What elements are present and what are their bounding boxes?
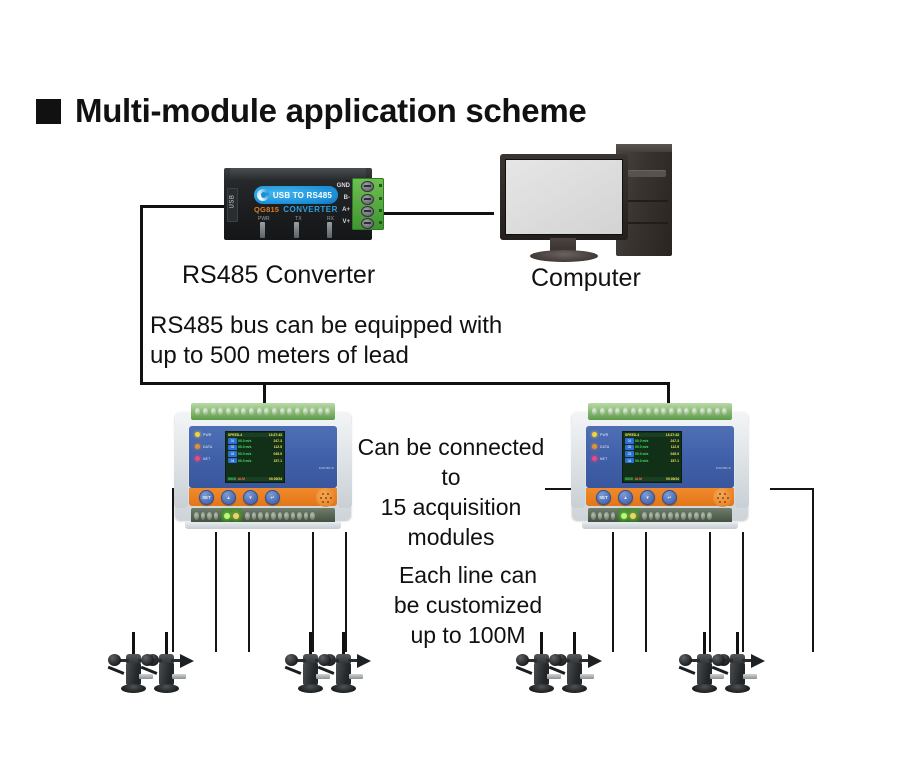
module-lcd-display: SPEED-4 13:27:43 01 00.0 m/s 247.3 02 00… <box>622 431 682 483</box>
note-rs485-bus-line1: RS485 bus can be equipped with <box>150 311 620 341</box>
lcd-channel-speed: 00.0 m/s <box>238 459 260 463</box>
module-set-button[interactable]: SET <box>596 490 611 505</box>
lcd-channel-tag: 04 <box>625 458 634 463</box>
top-terminal-pin <box>600 407 605 416</box>
top-terminal-pin <box>249 407 254 416</box>
wind-anemometer-sensor <box>321 632 369 702</box>
top-terminal-pin <box>684 407 689 416</box>
lcd-footer-time: 00.00/24 <box>666 477 679 481</box>
converter-screw-terminal-block <box>352 178 384 230</box>
lcd-channel-value: 112.5 <box>671 445 679 449</box>
module-foot-rail <box>185 522 341 529</box>
sensor-base <box>725 684 750 693</box>
sensor-connector <box>743 674 757 679</box>
screw-terminal-a <box>361 206 374 217</box>
sensor-base <box>154 684 179 693</box>
sensor-cable <box>549 666 566 675</box>
lcd-header-time: 13:27:43 <box>666 433 679 437</box>
module-speaker-grille <box>316 488 335 507</box>
top-terminal-pin <box>669 407 674 416</box>
top-terminal-pin <box>325 407 330 416</box>
led-indicator-pwr-icon <box>195 432 200 437</box>
note-line-length-line2: be customized <box>380 590 556 620</box>
lcd-footer-mode: X019 <box>228 477 236 481</box>
top-terminal-pin <box>303 407 308 416</box>
module-led-data: DATA <box>195 444 225 449</box>
wire-right-module-sensor-b <box>645 532 647 652</box>
lcd-channel-value: 247.3 <box>671 439 680 443</box>
module-led-label-data: DATA <box>203 445 212 449</box>
terminal-label-a: A+ <box>324 204 350 216</box>
sensor-cup <box>318 654 331 666</box>
sensor-cable <box>141 666 158 675</box>
led-indicator-net-icon <box>195 456 200 461</box>
module-lcd-display: SPEED-4 13:27:43 01 00.0 m/s 247.3 02 00… <box>225 431 285 483</box>
top-terminal-pin <box>654 407 659 416</box>
sensor-cable <box>108 666 125 675</box>
lcd-footer-alarm: ALM <box>635 477 642 481</box>
lcd-header: SPEED-4 13:27:43 <box>624 433 680 437</box>
converter-terminal-labels: GND B- A+ V+ <box>324 180 350 228</box>
sensor-cable <box>318 666 335 675</box>
lcd-footer: X019 ALM 00.00/24 <box>227 477 283 481</box>
terminal-tick-3 <box>379 209 382 212</box>
lcd-channel-value: 157.1 <box>671 459 680 463</box>
lcd-footer: X019 ALM 00.00/24 <box>624 477 680 481</box>
sensor-cup <box>141 654 154 666</box>
wire-bus-horizontal <box>140 382 670 385</box>
pc-drive-bay <box>628 170 666 177</box>
module-foot-rail <box>582 522 738 529</box>
module-up-button[interactable]: ▲ <box>618 490 633 505</box>
module-led-label-net: NET <box>600 457 607 461</box>
terminal-label-gnd: GND <box>324 180 350 192</box>
top-terminal-pin <box>707 407 712 416</box>
top-terminal-pin <box>638 407 643 416</box>
top-terminal-pin <box>203 407 208 416</box>
led-indicator-pwr-icon <box>592 432 597 437</box>
sensor-base <box>331 684 356 693</box>
lcd-data-row: 01 00.0 m/s 247.3 <box>227 438 283 443</box>
terminal-tick-4 <box>379 221 382 224</box>
sensor-connector <box>172 674 186 679</box>
rs485-converter-device: USB USB TO RS485 QG815 CONVERTER PWR TX … <box>224 168 372 240</box>
square-bullet-icon <box>36 99 61 124</box>
lcd-data-row: 04 00.0 m/s 157.1 <box>624 458 680 463</box>
module-top-terminal-block <box>588 403 732 420</box>
wire-right-module-sensor-a <box>612 532 614 652</box>
top-terminal-pin <box>226 407 231 416</box>
lcd-footer-time: 00.00/24 <box>269 477 282 481</box>
wind-anemometer-sensor <box>144 632 192 702</box>
module-front-panel: PWR DATA NET SPEED-4 13:27:43 01 <box>586 426 734 488</box>
module-din-ear-right <box>338 424 352 508</box>
wire-right-module-side-down <box>812 488 814 652</box>
wire-left-module-sensor-a <box>215 532 217 652</box>
power-led-amber-icon <box>233 513 239 519</box>
lcd-data-row: 02 00.0 m/s 112.5 <box>227 445 283 450</box>
top-terminal-pin <box>715 407 720 416</box>
sensor-wind-vane <box>180 654 194 668</box>
module-side-text: MODBUS <box>716 466 731 470</box>
module-down-button[interactable]: ▼ <box>243 490 258 505</box>
lcd-channel-value: 112.5 <box>274 445 282 449</box>
module-enter-button[interactable]: ↵ <box>662 490 677 505</box>
lcd-channel-speed: 00.0 m/s <box>238 445 260 449</box>
top-terminal-pin <box>318 407 323 416</box>
led-indicator-data-icon <box>195 444 200 449</box>
sensor-wind-vane <box>588 654 602 668</box>
usb-port-label: USB <box>230 200 236 209</box>
note-acquisition-line3: modules <box>352 522 550 552</box>
top-terminal-pin <box>287 407 292 416</box>
module-led-label-data: DATA <box>600 445 609 449</box>
wire-converter-to-computer <box>372 212 494 215</box>
sensor-base <box>121 684 146 693</box>
module-up-button[interactable]: ▲ <box>221 490 236 505</box>
lcd-header-title: SPEED-4 <box>228 433 242 437</box>
computer-device <box>492 144 672 272</box>
module-din-ear-right <box>735 424 749 508</box>
led-indicator-net-icon <box>592 456 597 461</box>
module-side-text: MODBUS <box>319 466 334 470</box>
sensor-cup <box>549 654 562 666</box>
lcd-data-row: 03 00.0 m/s 045.9 <box>227 451 283 456</box>
sensor-cable <box>285 666 302 675</box>
top-terminal-pin <box>272 407 277 416</box>
note-acquisition-modules: Can be connected to 15 acquisition modul… <box>352 432 550 552</box>
top-terminal-pin <box>241 407 246 416</box>
top-terminal-pin <box>615 407 620 416</box>
note-rs485-bus-line2: up to 500 meters of lead <box>150 341 620 371</box>
lcd-channel-tag: 03 <box>228 451 237 456</box>
pc-panel-line-1 <box>624 200 668 202</box>
terminal-tick-2 <box>379 197 382 200</box>
top-terminal-pin <box>218 407 223 416</box>
rs485-converter-label: RS485 Converter <box>182 261 375 290</box>
module-down-button[interactable]: ▼ <box>640 490 655 505</box>
top-terminal-pin <box>631 407 636 416</box>
wire-left-module-side-down <box>172 488 174 652</box>
module-speaker-grille <box>713 488 732 507</box>
top-terminal-pin <box>592 407 597 416</box>
monitor-screen <box>505 159 623 235</box>
page-title: Multi-module application scheme <box>36 92 586 130</box>
converter-led-slots <box>260 222 332 238</box>
module-button-row: SET ▲ ▼ ↵ <box>596 490 677 505</box>
lcd-channel-tag: 01 <box>625 438 634 443</box>
diagram-canvas: Multi-module application scheme USB USB … <box>0 0 900 780</box>
monitor-base <box>530 250 598 262</box>
module-enter-button[interactable]: ↵ <box>265 490 280 505</box>
lcd-channel-speed: 00.0 m/s <box>635 445 657 449</box>
note-line-length-line1: Each line can <box>380 560 556 590</box>
module-led-label-net: NET <box>203 457 210 461</box>
top-terminal-pin <box>234 407 239 416</box>
pc-tower-top <box>616 144 672 152</box>
lcd-footer-alarm: ALM <box>238 477 245 481</box>
note-acquisition-line1: Can be connected to <box>352 432 550 492</box>
lcd-channel-speed: 00.0 m/s <box>635 459 657 463</box>
lcd-header-title: SPEED-4 <box>625 433 639 437</box>
top-terminal-pin <box>211 407 216 416</box>
top-terminal-pin <box>722 407 727 416</box>
wire-converter-left-stub <box>140 205 226 208</box>
sensor-connector <box>349 674 363 679</box>
lcd-channel-speed: 00.0 m/s <box>238 452 260 456</box>
top-terminal-pin <box>646 407 651 416</box>
module-led-label-pwr: PWR <box>203 433 212 437</box>
module-din-ear-left <box>174 424 188 508</box>
top-terminal-pin <box>257 407 262 416</box>
top-terminal-pin <box>280 407 285 416</box>
screw-terminal-v <box>361 218 374 229</box>
power-led-green-icon <box>621 513 627 519</box>
note-acquisition-line2: 15 acquisition <box>352 492 550 522</box>
lcd-channel-tag: 02 <box>625 445 634 450</box>
terminal-label-b: B- <box>324 192 350 204</box>
module-status-leds: PWR DATA NET <box>195 432 225 468</box>
module-top-terminal-block <box>191 403 335 420</box>
top-terminal-pin <box>195 407 200 416</box>
sensor-wind-vane <box>357 654 371 668</box>
sensor-cup <box>712 654 725 666</box>
module-button-row: SET ▲ ▼ ↵ <box>199 490 280 505</box>
converter-top-lip <box>230 168 366 179</box>
module-led-net: NET <box>195 456 225 461</box>
sensor-connector <box>580 674 594 679</box>
converter-led-pwr <box>260 222 265 238</box>
screw-terminal-gnd <box>361 181 374 192</box>
terminal-tick-1 <box>379 184 382 187</box>
terminal-label-v: V+ <box>324 216 350 228</box>
screw-terminal-b <box>361 194 374 205</box>
lcd-channel-value: 157.1 <box>274 459 283 463</box>
wire-right-module-side-out <box>770 488 814 490</box>
top-terminal-pin <box>264 407 269 416</box>
sensor-base <box>298 684 323 693</box>
lcd-data-row: 01 00.0 m/s 247.3 <box>624 438 680 443</box>
sensor-base <box>529 684 554 693</box>
top-terminal-pin <box>295 407 300 416</box>
wire-bus-vertical-left <box>140 205 143 385</box>
swirl-logo-icon <box>257 189 269 201</box>
lcd-channel-tag: 01 <box>228 438 237 443</box>
lcd-header-time: 13:27:43 <box>269 433 282 437</box>
module-din-ear-left <box>571 424 585 508</box>
top-terminal-pin <box>700 407 705 416</box>
module-led-data: DATA <box>592 444 622 449</box>
sensor-base <box>692 684 717 693</box>
module-front-panel: PWR DATA NET SPEED-4 13:27:43 01 <box>189 426 337 488</box>
page-title-text: Multi-module application scheme <box>75 92 586 130</box>
lcd-channel-tag: 03 <box>625 451 634 456</box>
top-terminal-pin <box>310 407 315 416</box>
module-status-leds: PWR DATA NET <box>592 432 622 468</box>
sensor-cable <box>712 666 729 675</box>
acquisition-module-right: PWR DATA NET SPEED-4 13:27:43 01 <box>572 398 748 538</box>
top-terminal-pin <box>661 407 666 416</box>
module-led-label-pwr: PWR <box>600 433 609 437</box>
sensor-cup <box>679 654 692 666</box>
lcd-header: SPEED-4 13:27:43 <box>227 433 283 437</box>
sensor-cup <box>108 654 121 666</box>
top-terminal-pin <box>623 407 628 416</box>
sensor-cable <box>679 666 696 675</box>
module-led-net: NET <box>592 456 622 461</box>
top-terminal-pin <box>692 407 697 416</box>
lcd-channel-value: 247.3 <box>274 439 283 443</box>
module-led-pwr: PWR <box>592 432 622 437</box>
converter-model-text: QG815 <box>254 205 279 214</box>
wire-left-module-sensor-b <box>248 532 250 652</box>
usb-port: USB <box>227 188 238 222</box>
power-led-green-icon <box>224 513 230 519</box>
computer-label: Computer <box>531 264 641 293</box>
sensor-cable <box>516 666 533 675</box>
acquisition-module-left: PWR DATA NET SPEED-4 13:27:43 01 <box>175 398 351 538</box>
wind-anemometer-sensor <box>715 632 763 702</box>
sensor-cup <box>285 654 298 666</box>
note-rs485-bus: RS485 bus can be equipped with up to 500… <box>150 311 620 371</box>
module-led-pwr: PWR <box>195 432 225 437</box>
led-indicator-data-icon <box>592 444 597 449</box>
lcd-channel-speed: 00.0 m/s <box>635 452 657 456</box>
sensor-wind-vane <box>751 654 765 668</box>
lcd-footer-mode: X019 <box>625 477 633 481</box>
top-terminal-pin <box>677 407 682 416</box>
lcd-channel-tag: 02 <box>228 445 237 450</box>
sensor-base <box>562 684 587 693</box>
lcd-data-row: 03 00.0 m/s 045.9 <box>624 451 680 456</box>
lcd-channel-speed: 00.0 m/s <box>635 439 657 443</box>
lcd-data-row: 02 00.0 m/s 112.5 <box>624 445 680 450</box>
converter-led-tx <box>294 222 299 238</box>
monitor-frame <box>500 154 628 240</box>
top-terminal-pin <box>608 407 613 416</box>
power-led-amber-icon <box>630 513 636 519</box>
lcd-channel-value: 045.9 <box>274 452 283 456</box>
wind-anemometer-sensor <box>552 632 600 702</box>
lcd-channel-speed: 00.0 m/s <box>238 439 260 443</box>
lcd-channel-value: 045.9 <box>671 452 680 456</box>
module-set-button[interactable]: SET <box>199 490 214 505</box>
lcd-channel-tag: 04 <box>228 458 237 463</box>
lcd-data-row: 04 00.0 m/s 157.1 <box>227 458 283 463</box>
sensor-cup <box>516 654 529 666</box>
pc-panel-line-2 <box>624 222 668 224</box>
